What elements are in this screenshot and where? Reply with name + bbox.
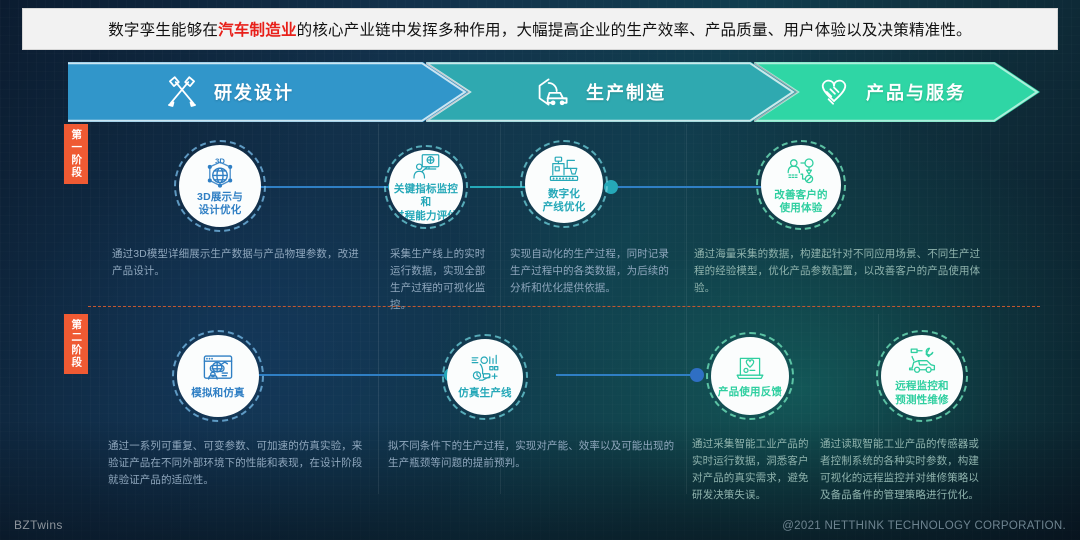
node-customer-experience[interactable]: 改善客户的使用体验 — [756, 140, 846, 230]
arrow-stage-1[interactable]: 研发设计 — [68, 62, 468, 122]
node-kpi-monitoring[interactable]: 关键指标监控和过程能力评估 — [384, 145, 468, 229]
drafting-tools-icon — [164, 74, 200, 110]
header-text-before: 数字孪生能够在 — [108, 22, 218, 39]
phase-tab-1[interactable]: 第一阶段 — [64, 124, 88, 184]
arrow-label-3: 产品与服务 — [866, 79, 966, 105]
node-title: 仿真生产线 — [458, 387, 512, 400]
node-disc: 数字化产线优化 — [525, 145, 603, 223]
phase-tab-2[interactable]: 第二阶段 — [64, 314, 88, 374]
node-3d-display[interactable]: 3D 3D展示与设计优化 — [174, 140, 266, 232]
vr-simulation-icon — [200, 351, 236, 385]
node-disc: 仿真生产线 — [447, 339, 523, 415]
node-title: 产品使用反馈 — [718, 386, 782, 399]
desc-customer-experience: 通过海量采集的数据，构建起针对不同应用场景、不同生产过程的经验模型，优化产品参数… — [694, 246, 982, 297]
node-simulation[interactable]: 模拟和仿真 — [172, 330, 264, 422]
laptop-heart-icon — [733, 352, 767, 384]
car-wrench-icon — [904, 345, 940, 378]
node-simulated-line[interactable]: 仿真生产线 — [442, 334, 528, 420]
node-title: 数字化产线优化 — [543, 188, 586, 214]
node-remote-monitoring[interactable]: 远程监控和预测性维修 — [876, 330, 968, 422]
node-title: 改善客户的使用体验 — [774, 189, 828, 215]
node-title: 远程监控和预测性维修 — [895, 380, 949, 406]
connector-dot-r2-c — [690, 368, 704, 382]
car-inspection-icon — [536, 74, 572, 110]
connector-line-r2-a — [240, 374, 450, 376]
hand-data-icon — [468, 353, 502, 385]
desc-usage-feedback: 通过采集智能工业产品的实时运行数据，洞悉客户对产品的真实需求，避免研发决策失误。 — [692, 436, 810, 504]
handshake-heart-icon — [816, 74, 852, 110]
desc-remote-monitoring: 通过读取智能工业产品的传感器或者控制系统的各种实时参数，构建可视化的远程监控并对… — [820, 436, 988, 504]
header-banner: 数字孪生能够在汽车制造业的核心产业链中发挥多种作用，大幅提高企业的生产效率、产品… — [22, 8, 1058, 50]
footer-brand: BZTwins — [14, 518, 63, 532]
column-separator — [378, 124, 379, 494]
node-disc: 远程监控和预测性维修 — [881, 335, 963, 417]
column-separator — [686, 124, 687, 494]
slide-canvas: 数字孪生能够在汽车制造业的核心产业链中发挥多种作用，大幅提高企业的生产效率、产品… — [0, 0, 1080, 540]
arrow-stage-3[interactable]: 产品与服务 — [754, 62, 1040, 122]
arrow-stage-2[interactable]: 生产制造 — [426, 62, 796, 122]
factory-line-icon — [547, 154, 581, 186]
desc-digital-line: 实现自动化的生产过程，同时记录生产过程中的各类数据，为后续的分析和优化提供依据。 — [510, 246, 678, 297]
connector-line-r2-c — [556, 374, 696, 376]
node-digital-line[interactable]: 数字化产线优化 — [520, 140, 608, 228]
phase-divider — [88, 306, 1040, 307]
phase-tab-1-label: 第一阶段 — [71, 129, 82, 179]
node-disc: 模拟和仿真 — [177, 335, 259, 417]
header-text-after: 的核心产业链中发挥多种作用，大幅提高企业的生产效率、产品质量、用户体验以及决策精… — [297, 22, 972, 39]
arrow-label-1: 研发设计 — [214, 79, 294, 105]
desc-kpi-monitoring: 采集生产线上的实时运行数据，实现全部生产过程的可视化监控。 — [390, 246, 494, 314]
node-disc: 关键指标监控和过程能力评估 — [389, 150, 463, 224]
arrow-label-2: 生产制造 — [586, 79, 666, 105]
desc-3d-display: 通过3D模型详细展示生产数据与产品物理参数，改进产品设计。 — [112, 246, 364, 280]
node-disc: 产品使用反馈 — [711, 337, 789, 415]
connector-line-r1-c — [608, 186, 768, 188]
footer-copyright: @2021 NETTHINK TECHNOLOGY CORPORATION. — [782, 520, 1066, 532]
customer-location-icon — [784, 155, 818, 187]
node-title: 3D展示与设计优化 — [197, 191, 243, 217]
process-arrow-banner: 研发设计 — [68, 62, 1040, 122]
node-disc: 3D 3D展示与设计优化 — [179, 145, 261, 227]
node-title: 模拟和仿真 — [191, 387, 245, 400]
monitor-person-icon — [410, 151, 442, 181]
header-title: 数字孪生能够在汽车制造业的核心产业链中发挥多种作用，大幅提高企业的生产效率、产品… — [108, 18, 972, 40]
3d-globe-icon: 3D — [202, 155, 238, 189]
node-disc: 改善客户的使用体验 — [761, 145, 841, 225]
desc-simulation: 通过一系列可重复、可变参数、可加速的仿真实验，来验证产品在不同外部环境下的性能和… — [108, 438, 366, 489]
phase-tab-2-label: 第二阶段 — [71, 319, 82, 369]
desc-simulated-line: 拟不同条件下的生产过程，实现对产能、效率以及可能出现的生产瓶颈等问题的提前预判。 — [388, 438, 676, 472]
header-highlight: 汽车制造业 — [218, 22, 297, 39]
node-usage-feedback[interactable]: 产品使用反馈 — [706, 332, 794, 420]
